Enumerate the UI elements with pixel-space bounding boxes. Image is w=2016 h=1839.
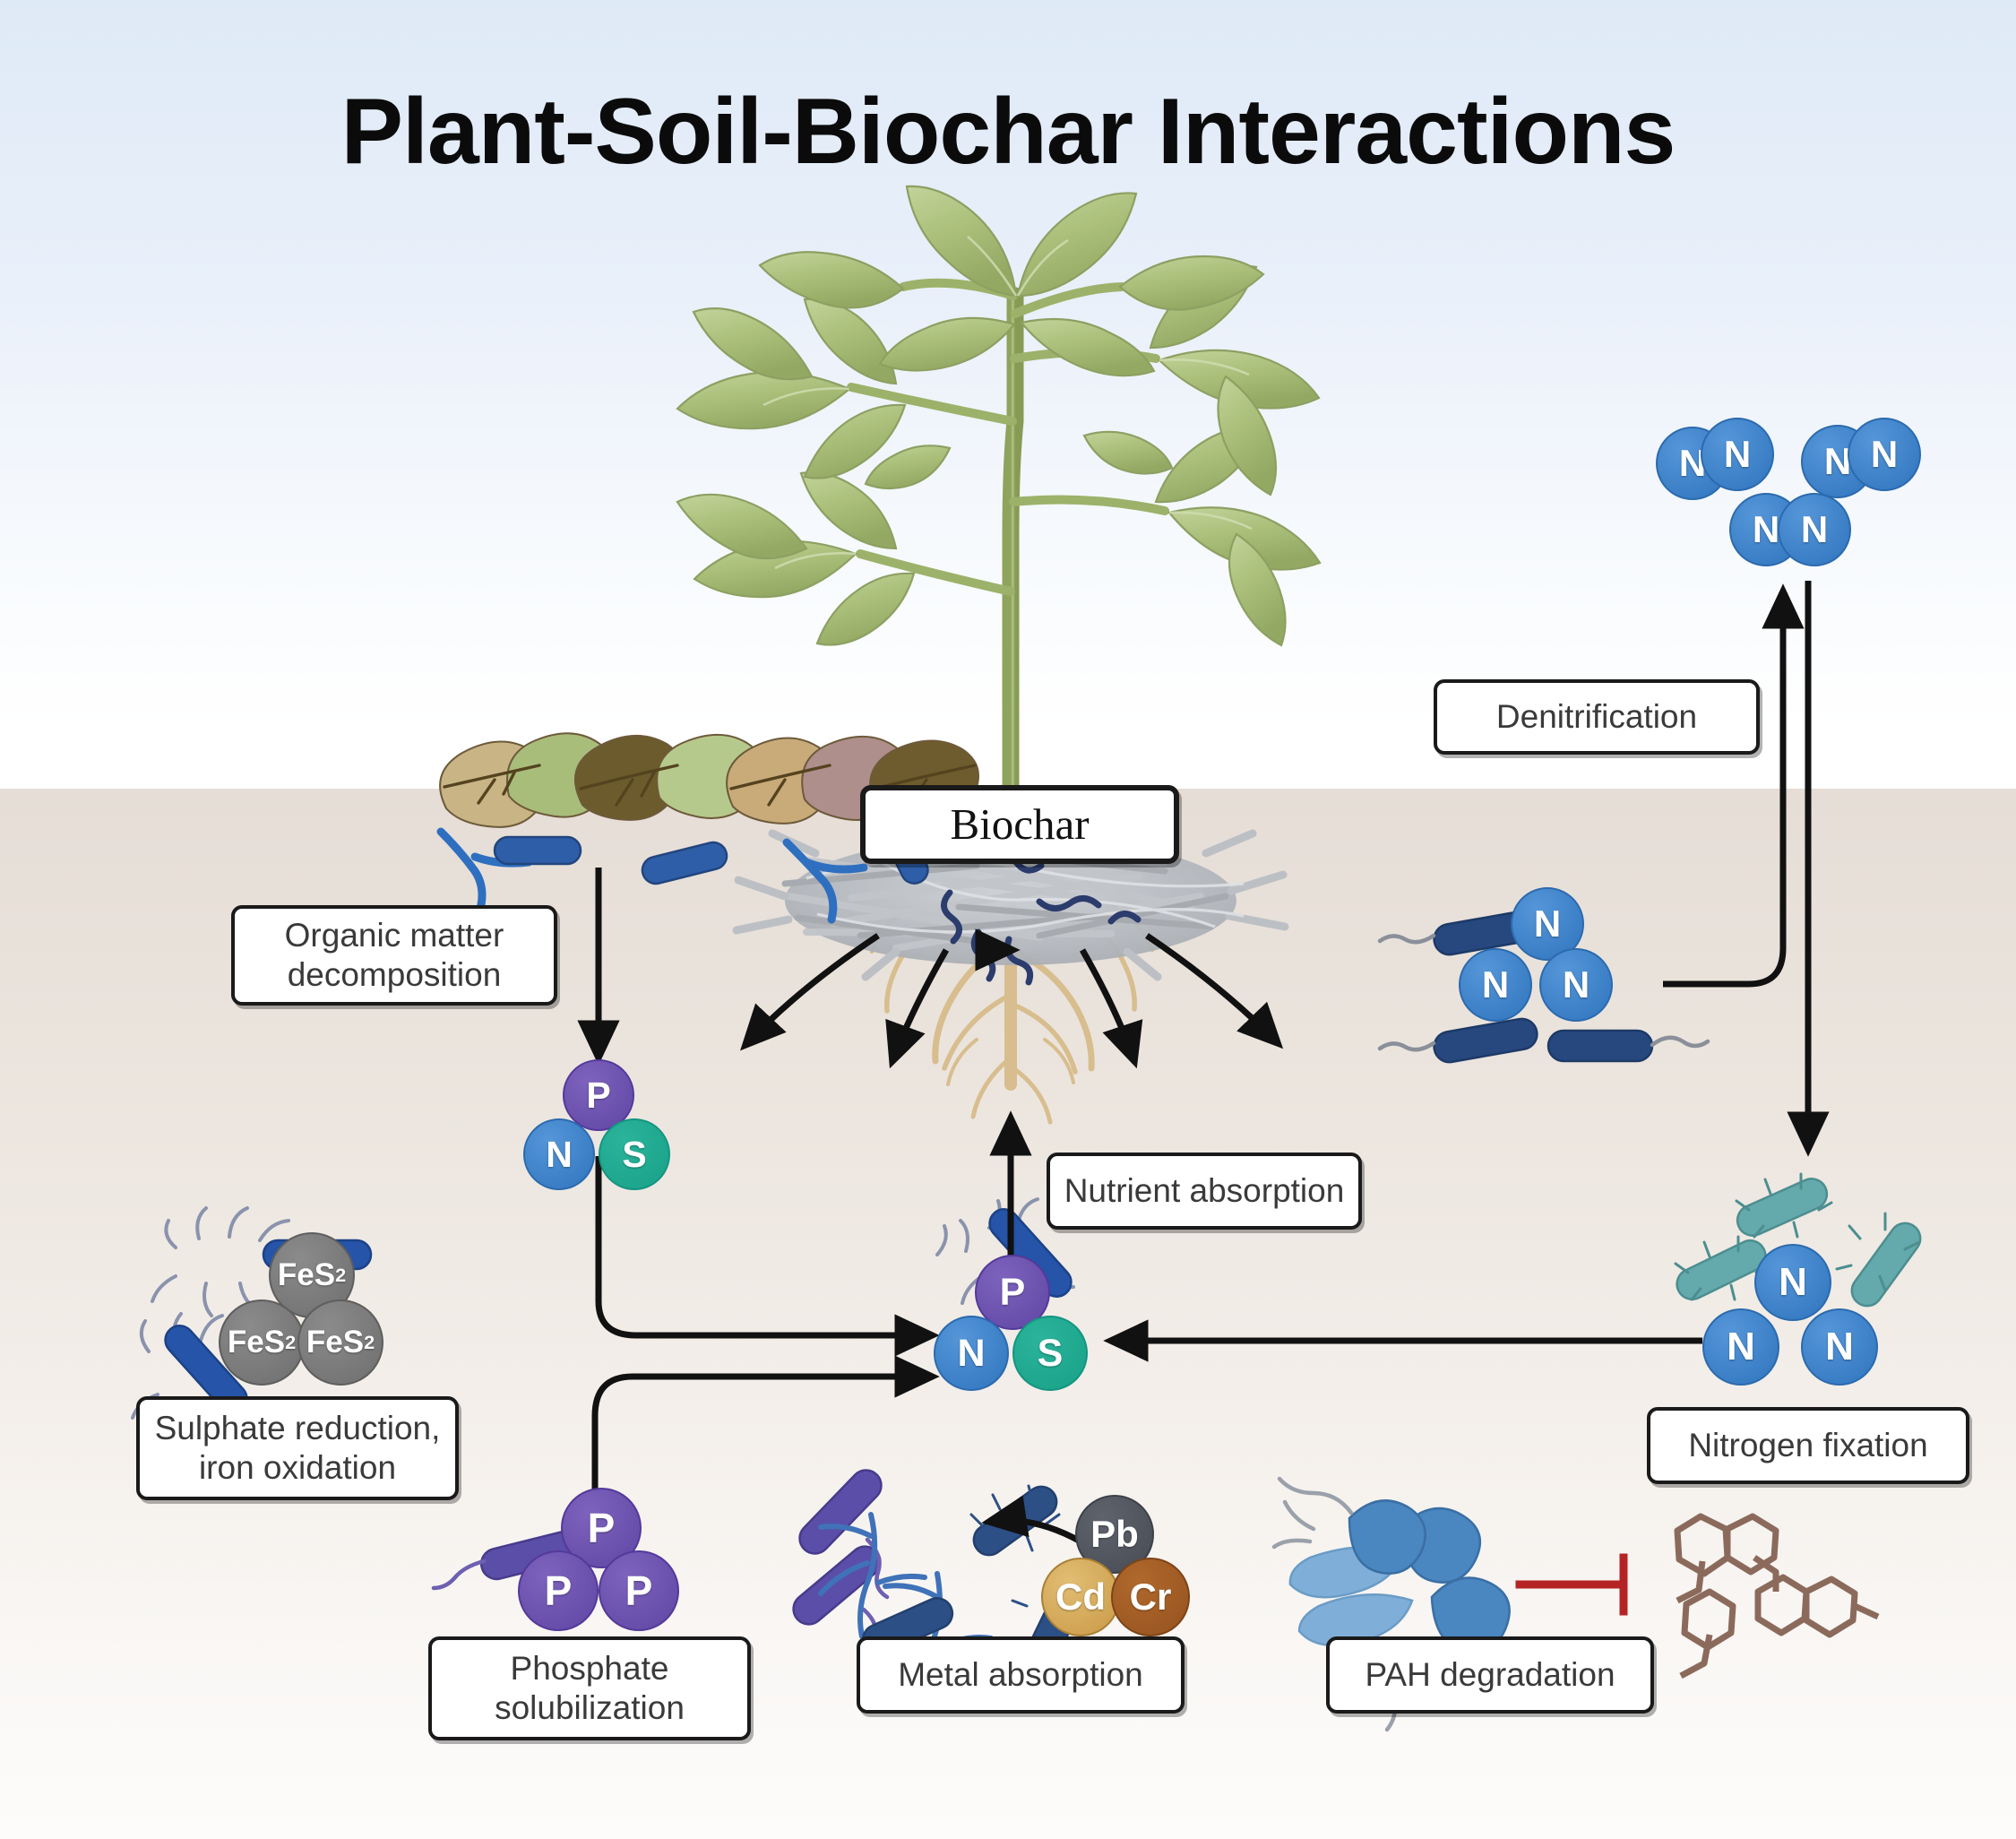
cr-particle: Cr: [1111, 1558, 1190, 1636]
p-molecule: P: [518, 1550, 599, 1631]
n-molecule: N: [1801, 1308, 1878, 1386]
label-sulphate-reduction[interactable]: Sulphate reduction, iron oxidation: [136, 1396, 459, 1500]
label-biochar[interactable]: Biochar: [860, 785, 1179, 864]
p-molecule: P: [599, 1550, 679, 1631]
fes2-particle: FeS2: [297, 1299, 383, 1386]
arrow-denitrification-up: [1663, 591, 1783, 984]
figure-canvas: Plant-Soil-Biochar Interactions: [0, 0, 2016, 1839]
s-molecule: S: [1012, 1316, 1088, 1391]
n-molecule: N: [523, 1118, 595, 1190]
n-molecule: N: [1702, 1308, 1779, 1386]
arrow-phosphate-to-pool: [595, 1377, 932, 1524]
n-atom: N: [1701, 418, 1774, 491]
biochar-radiate-4: [1147, 936, 1278, 1043]
n-molecule: N: [1539, 948, 1613, 1022]
label-metal-absorption[interactable]: Metal absorption: [857, 1636, 1185, 1714]
biochar-radiate-1: [745, 936, 878, 1045]
n-atom: N: [1848, 418, 1921, 491]
label-nitrogen-fixation[interactable]: Nitrogen fixation: [1647, 1407, 1969, 1484]
n-molecule: N: [934, 1316, 1009, 1391]
cd-particle: Cd: [1041, 1558, 1120, 1636]
n-molecule: N: [1459, 948, 1532, 1022]
label-sulphate-reduction-text: Sulphate reduction, iron oxidation: [155, 1409, 441, 1487]
n-atom: N: [1778, 493, 1851, 566]
tomato-plant: [677, 186, 1320, 798]
label-nutrient-absorption[interactable]: Nutrient absorption: [1047, 1153, 1362, 1230]
label-pah-degradation[interactable]: PAH degradation: [1326, 1636, 1654, 1714]
n-molecule: N: [1754, 1244, 1831, 1321]
fes2-particle: FeS2: [219, 1299, 305, 1386]
s-molecule: S: [599, 1118, 670, 1190]
label-denitrification[interactable]: Denitrification: [1434, 679, 1760, 755]
label-phosphate-solub-text: Phosphate solubilization: [495, 1649, 685, 1727]
label-organic-matter[interactable]: Organic matter decomposition: [231, 905, 557, 1006]
label-organic-matter-text: Organic matter decomposition: [285, 916, 504, 994]
pah-inhibition-arrow: [1520, 1558, 1624, 1611]
pah-molecules: [1677, 1516, 1878, 1676]
label-phosphate-solub[interactable]: Phosphate solubilization: [428, 1636, 751, 1740]
